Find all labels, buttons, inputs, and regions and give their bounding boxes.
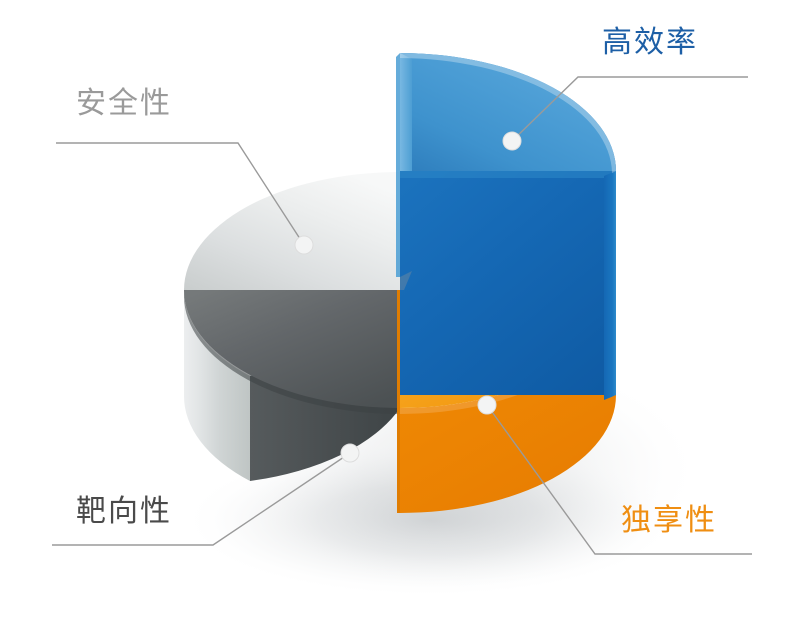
callout-efficiency-dot[interactable] xyxy=(503,132,521,150)
slice-exclusivity-cut-face xyxy=(397,290,400,513)
slice-efficiency-wall-bevel xyxy=(400,171,616,178)
slice-efficiency-right-band xyxy=(604,171,616,400)
slice-label-efficiency[interactable]: 高效率 xyxy=(602,28,698,58)
slice-label-security[interactable]: 安全性 xyxy=(76,89,172,119)
callout-exclusivity-dot[interactable] xyxy=(478,396,496,414)
slice-efficiency-left-edge xyxy=(396,53,400,277)
slice-security-top xyxy=(184,172,400,290)
callout-security-dot[interactable] xyxy=(295,236,313,254)
pie-slice-efficiency[interactable] xyxy=(396,53,616,400)
slice-label-targeting[interactable]: 靶向性 xyxy=(76,497,172,527)
slice-label-exclusivity[interactable]: 独享性 xyxy=(621,506,717,536)
chart-canvas: 高效率 安全性 靶向性 独享性 xyxy=(0,0,800,636)
callout-targeting-dot[interactable] xyxy=(341,444,359,462)
slice-efficiency-inner-wall xyxy=(400,171,616,395)
